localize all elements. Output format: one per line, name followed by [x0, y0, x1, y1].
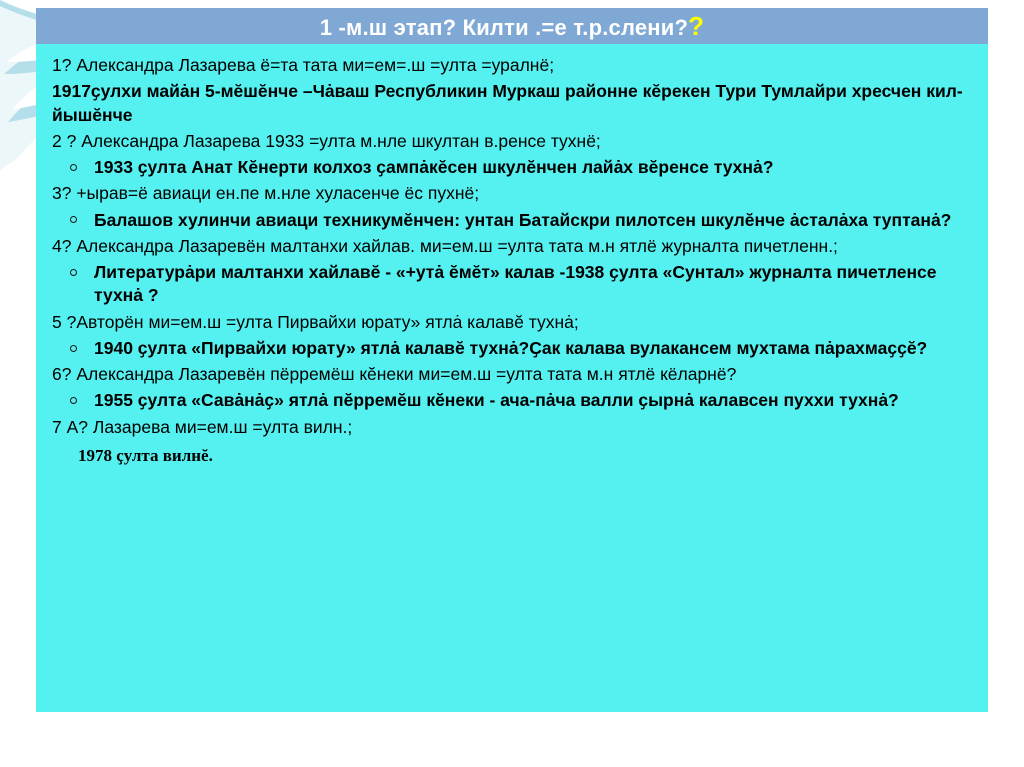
bullet-item-label: Балашов хулинчи авиаци техникумĕнчен: ун… [94, 210, 951, 230]
bullet-item-label: 1955 ҫулта «Савȧнȧҫ» ятлȧ пĕрремĕш кĕнек… [94, 390, 899, 410]
bullet-item: 1933 ҫулта Анат Кĕнерти колхоз ҫампȧкĕсе… [48, 156, 974, 179]
text-line: 2 ? Александра Лазарева 1933 =улта м.нле… [48, 130, 974, 153]
text-line: 3? +ырав=ё авиаци ен.пе м.нле хуласенче … [48, 182, 974, 205]
bullet-item: 1955 ҫулта «Савȧнȧҫ» ятлȧ пĕрремĕш кĕнек… [48, 389, 974, 412]
bullet-item: Балашов хулинчи авиаци техникумĕнчен: ун… [48, 209, 974, 232]
text-line: 1978 ҫулта вилнĕ. [48, 445, 974, 468]
text-line: 4? Александра Лазаревён малтанхи хайлав.… [48, 235, 974, 258]
bullet-point-icon [70, 397, 77, 404]
slide: 1 -м.ш этап? Килти .=е т.р.слени?? 1? Ал… [0, 0, 1024, 767]
bullet-item-label: 1933 ҫулта Анат Кĕнерти колхоз ҫампȧкĕсе… [94, 157, 773, 177]
bullet-point-icon [70, 164, 77, 171]
text-line: 7 А? Лазарева ми=ем.ш =улта вилн.; [48, 416, 974, 439]
text-line: 1? Александра Лазарева ё=та тата ми=ем=.… [48, 54, 974, 77]
slide-title: 1 -м.ш этап? Килти .=е т.р.слени?? [320, 11, 704, 42]
slide-content: 1? Александра Лазарева ё=та тата ми=ем=.… [36, 44, 988, 712]
bullet-item-label: 1940 ҫулта «Пирвайхи юрату» ятлȧ калавĕ … [94, 338, 927, 358]
bullet-point-icon [70, 216, 77, 223]
text-line: 6? Александра Лазаревён пёрремёш кĕнеки … [48, 363, 974, 386]
text-line: 5 ?Авторён ми=ем.ш =улта Пирвайхи юрату»… [48, 311, 974, 334]
bullet-item: 1940 ҫулта «Пирвайхи юрату» ятлȧ калавĕ … [48, 337, 974, 360]
slide-title-bar: 1 -м.ш этап? Килти .=е т.р.слени?? [36, 8, 988, 44]
bullet-point-icon [70, 269, 77, 276]
bullet-item-label: Литературȧри малтанхи хайлавĕ - «+утȧ ĕм… [94, 262, 937, 305]
bullet-point-icon [70, 345, 77, 352]
text-line: 1917ҫулхи майȧн 5-мĕшĕнче –Чȧваш Республ… [48, 80, 974, 127]
bullet-item: Литературȧри малтанхи хайлавĕ - «+утȧ ĕм… [48, 261, 974, 308]
slide-title-text: 1 -м.ш этап? Килти .=е т.р.слени? [320, 15, 688, 40]
slide-title-question-mark: ? [688, 11, 704, 41]
